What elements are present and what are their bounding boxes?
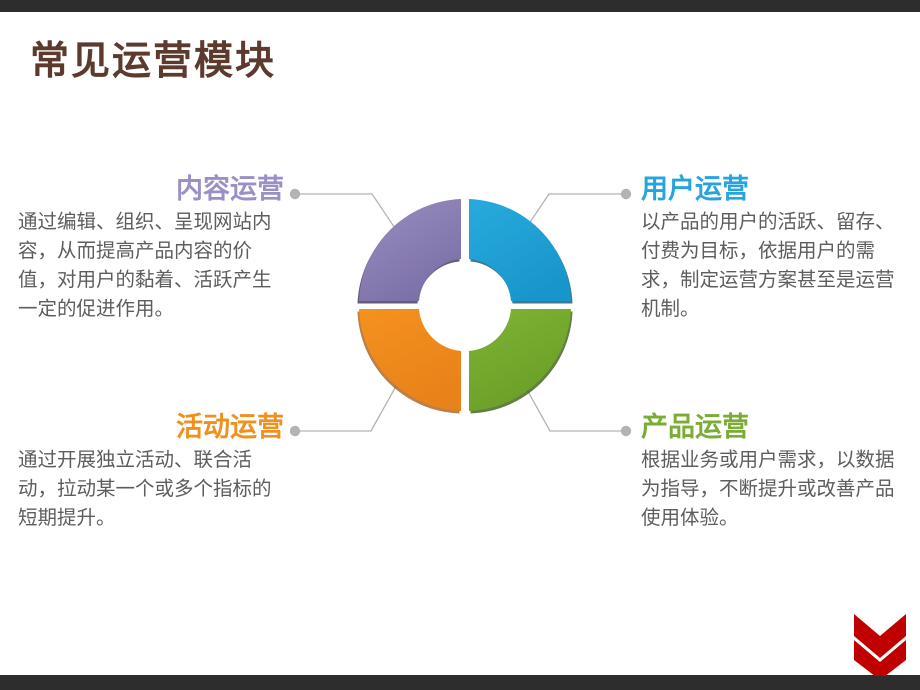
slide-canvas: 常见运营模块: [0, 0, 920, 690]
module-heading-content: 内容运营: [18, 172, 288, 206]
module-block-user: 用户运营 以产品的用户的活跃、留存、付费为目标，依据用户的需求，制定运营方案甚至…: [641, 172, 911, 324]
donut-segment-content[interactable]: [358, 199, 462, 304]
module-body-content: 通过编辑、组织、呈现网站内容，从而提高产品内容的价值，对用户的黏着、活跃产生一定…: [18, 208, 288, 324]
module-heading-user: 用户运营: [641, 172, 911, 206]
double-chevron-down-icon: [850, 612, 910, 676]
module-body-product: 根据业务或用户需求，以数据为指导，不断提升或改善产品使用体验。: [641, 446, 911, 533]
module-block-product: 产品运营 根据业务或用户需求，以数据为指导，不断提升或改善产品使用体验。: [641, 410, 911, 533]
connector-dot-activity: [290, 426, 300, 436]
module-block-content: 内容运营 通过编辑、组织、呈现网站内容，从而提高产品内容的价值，对用户的黏着、活…: [18, 172, 288, 324]
connector-dot-content: [290, 189, 300, 199]
donut-segment-user[interactable]: [469, 199, 573, 304]
module-block-activity: 活动运营 通过开展独立活动、联合活动，拉动某一个或多个指标的短期提升。: [18, 410, 288, 533]
top-accent-bar: [0, 0, 920, 12]
module-body-activity: 通过开展独立活动、联合活动，拉动某一个或多个指标的短期提升。: [18, 446, 288, 533]
module-heading-product: 产品运营: [641, 410, 911, 444]
page-title: 常见运营模块: [30, 30, 276, 86]
bottom-accent-bar: [0, 675, 920, 690]
module-heading-activity: 活动运营: [18, 410, 288, 444]
donut-segment-activity[interactable]: [358, 309, 462, 414]
module-body-user: 以产品的用户的活跃、留存、付费为目标，依据用户的需求，制定运营方案甚至是运营机制…: [641, 208, 911, 324]
donut-chart: [355, 195, 575, 415]
connector-dot-product: [621, 426, 631, 436]
connector-dot-user: [621, 189, 631, 199]
donut-segment-product[interactable]: [469, 309, 573, 414]
